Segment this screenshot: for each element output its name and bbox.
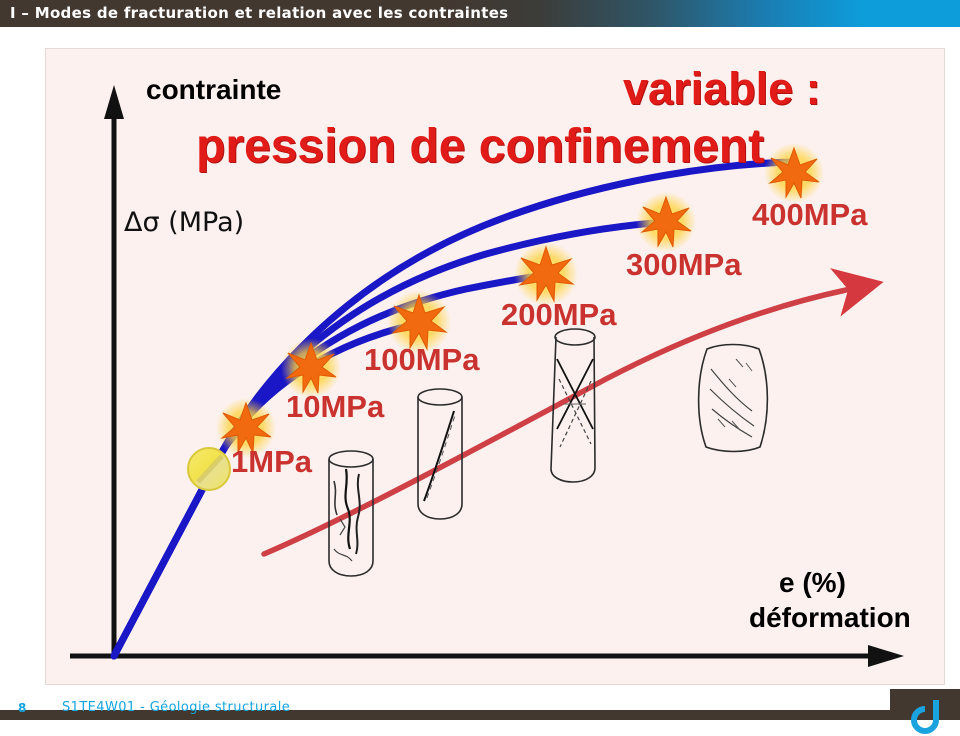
y-axis-label: contrainte	[146, 74, 281, 106]
star-marker-400mpa	[764, 143, 824, 203]
chart-title-line1: variable :	[623, 63, 821, 115]
y-axis-unit-label: Δσ (MPa)	[124, 207, 244, 238]
series-label-100mpa: 100MPa	[364, 342, 479, 378]
x-axis-label: e (%)	[779, 567, 846, 599]
elastic-limit-marker	[188, 448, 230, 490]
series-label-1mpa: 1MPa	[231, 444, 312, 480]
page-title: I – Modes de fracturation et relation av…	[10, 4, 508, 22]
series-label-10mpa: 10MPa	[286, 389, 384, 425]
sample-10mpa	[418, 389, 462, 519]
series-label-300mpa: 300MPa	[626, 247, 741, 283]
x-axis-sub-label: déformation	[749, 602, 911, 634]
series-label-200mpa: 200MPa	[501, 297, 616, 333]
page-number: 8	[18, 701, 26, 715]
curve-10mpa	[114, 369, 308, 656]
circular-brand-logo	[905, 694, 947, 736]
chart-title-line2: pression de confinement	[196, 119, 764, 174]
sample-400mpa	[699, 345, 768, 452]
header-bar: I – Modes de fracturation et relation av…	[0, 0, 960, 27]
chart-figure: contrainte Δσ (MPa) e (%) déformation va…	[45, 48, 945, 685]
curve-300mpa	[114, 222, 666, 656]
course-code-label: S1TE4W01 - Géologie structurale	[62, 700, 290, 715]
series-label-400mpa: 400MPa	[752, 197, 867, 233]
star-marker-300mpa	[636, 192, 696, 252]
